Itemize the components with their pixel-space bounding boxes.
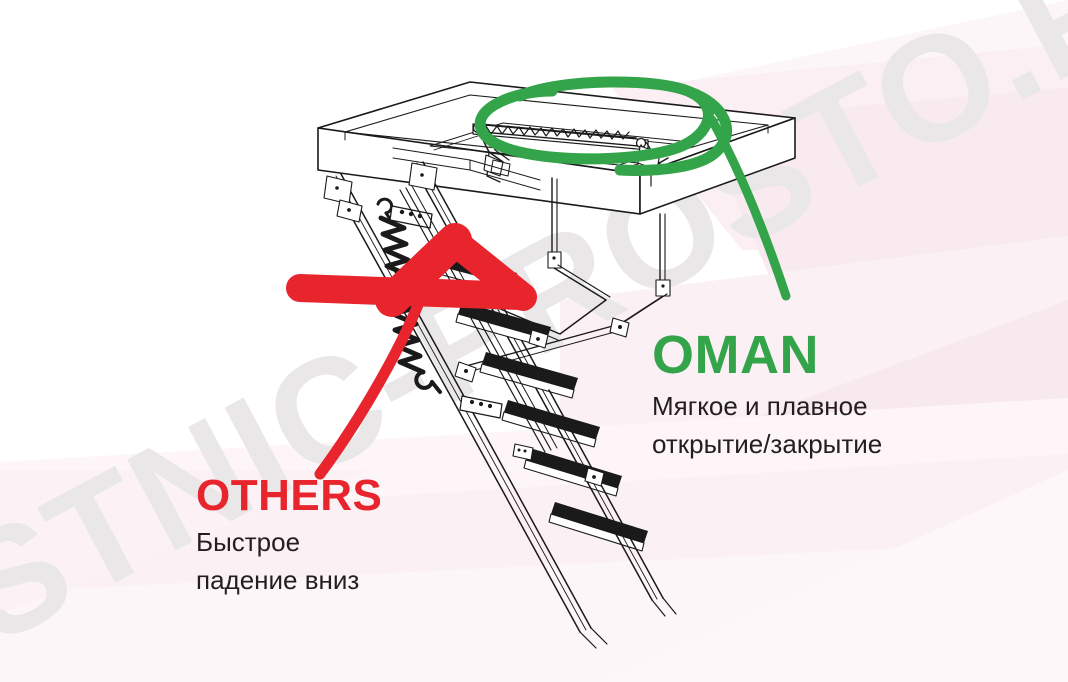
infographic-canvas: LESTNIC-PROSTO.RU	[0, 0, 1068, 682]
callout-others: OTHERS Быстрое падение вниз	[196, 474, 382, 599]
oman-line-1: Мягкое и плавное	[652, 388, 882, 426]
callout-oman: OMAN Мягкое и плавное открытие/закрытие	[652, 328, 882, 463]
red-arrow	[300, 240, 523, 474]
others-title: OTHERS	[196, 474, 382, 518]
annotation-marks	[0, 0, 1068, 682]
green-ellipse-highlight	[480, 82, 786, 296]
oman-title: OMAN	[652, 328, 882, 382]
oman-line-2: открытие/закрытие	[652, 426, 882, 464]
others-line-2: падение вниз	[196, 562, 382, 600]
others-line-1: Быстрое	[196, 524, 382, 562]
